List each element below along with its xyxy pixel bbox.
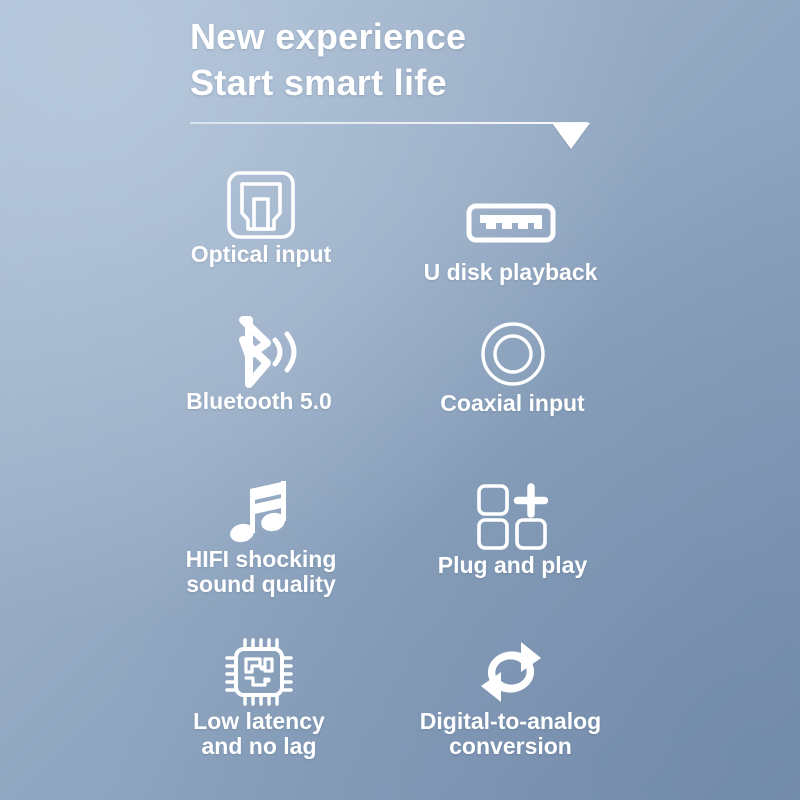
- feature-hifi-sound: HIFI shocking sound quality: [156, 465, 366, 625]
- feature-label: Bluetooth 5.0: [186, 389, 332, 414]
- feature-label: HIFI shocking sound quality: [186, 547, 337, 597]
- feature-label: Plug and play: [438, 553, 588, 578]
- divider-line: [190, 122, 588, 124]
- feature-row: Low latency and no lag Digital-to-analog…: [150, 625, 670, 775]
- usb-port-icon: [465, 186, 557, 260]
- feature-optical-input: Optical input: [156, 160, 366, 305]
- divider: [190, 122, 590, 158]
- feature-label: Coaxial input: [440, 391, 584, 416]
- feature-row: Optical input U disk playback: [150, 160, 670, 305]
- feature-low-latency: Low latency and no lag: [154, 625, 364, 775]
- music-note-icon: [224, 473, 298, 547]
- grid-plus-icon: [476, 479, 550, 553]
- optical-port-icon: [223, 168, 299, 242]
- feature-label: Low latency and no lag: [193, 709, 325, 759]
- headline-line-1: New experience: [190, 14, 710, 60]
- product-feature-banner: New experience Start smart life Optical …: [0, 0, 800, 800]
- feature-label: U disk playback: [424, 260, 598, 285]
- feature-row: HIFI shocking sound quality Plug and pla…: [150, 465, 670, 625]
- headline-block: New experience Start smart life: [190, 14, 710, 106]
- headline-line-2: Start smart life: [190, 60, 710, 106]
- feature-row: Bluetooth 5.0 Coaxial input: [150, 305, 670, 465]
- feature-coaxial-input: Coaxial input: [380, 305, 645, 465]
- feature-label: Optical input: [191, 242, 332, 267]
- feature-u-disk-playback: U disk playback: [378, 160, 643, 305]
- feature-grid: Optical input U disk playback: [150, 160, 670, 775]
- bluetooth-signal-icon: [215, 315, 303, 389]
- triangle-down-icon: [552, 123, 590, 149]
- microchip-icon: [222, 635, 296, 709]
- feature-dac-conversion: Digital-to-analog conversion: [378, 625, 643, 775]
- coaxial-circles-icon: [479, 317, 547, 391]
- feature-bluetooth: Bluetooth 5.0: [154, 305, 364, 465]
- feature-plug-and-play: Plug and play: [380, 465, 645, 625]
- feature-label: Digital-to-analog conversion: [420, 709, 601, 759]
- refresh-cycle-icon: [473, 635, 549, 709]
